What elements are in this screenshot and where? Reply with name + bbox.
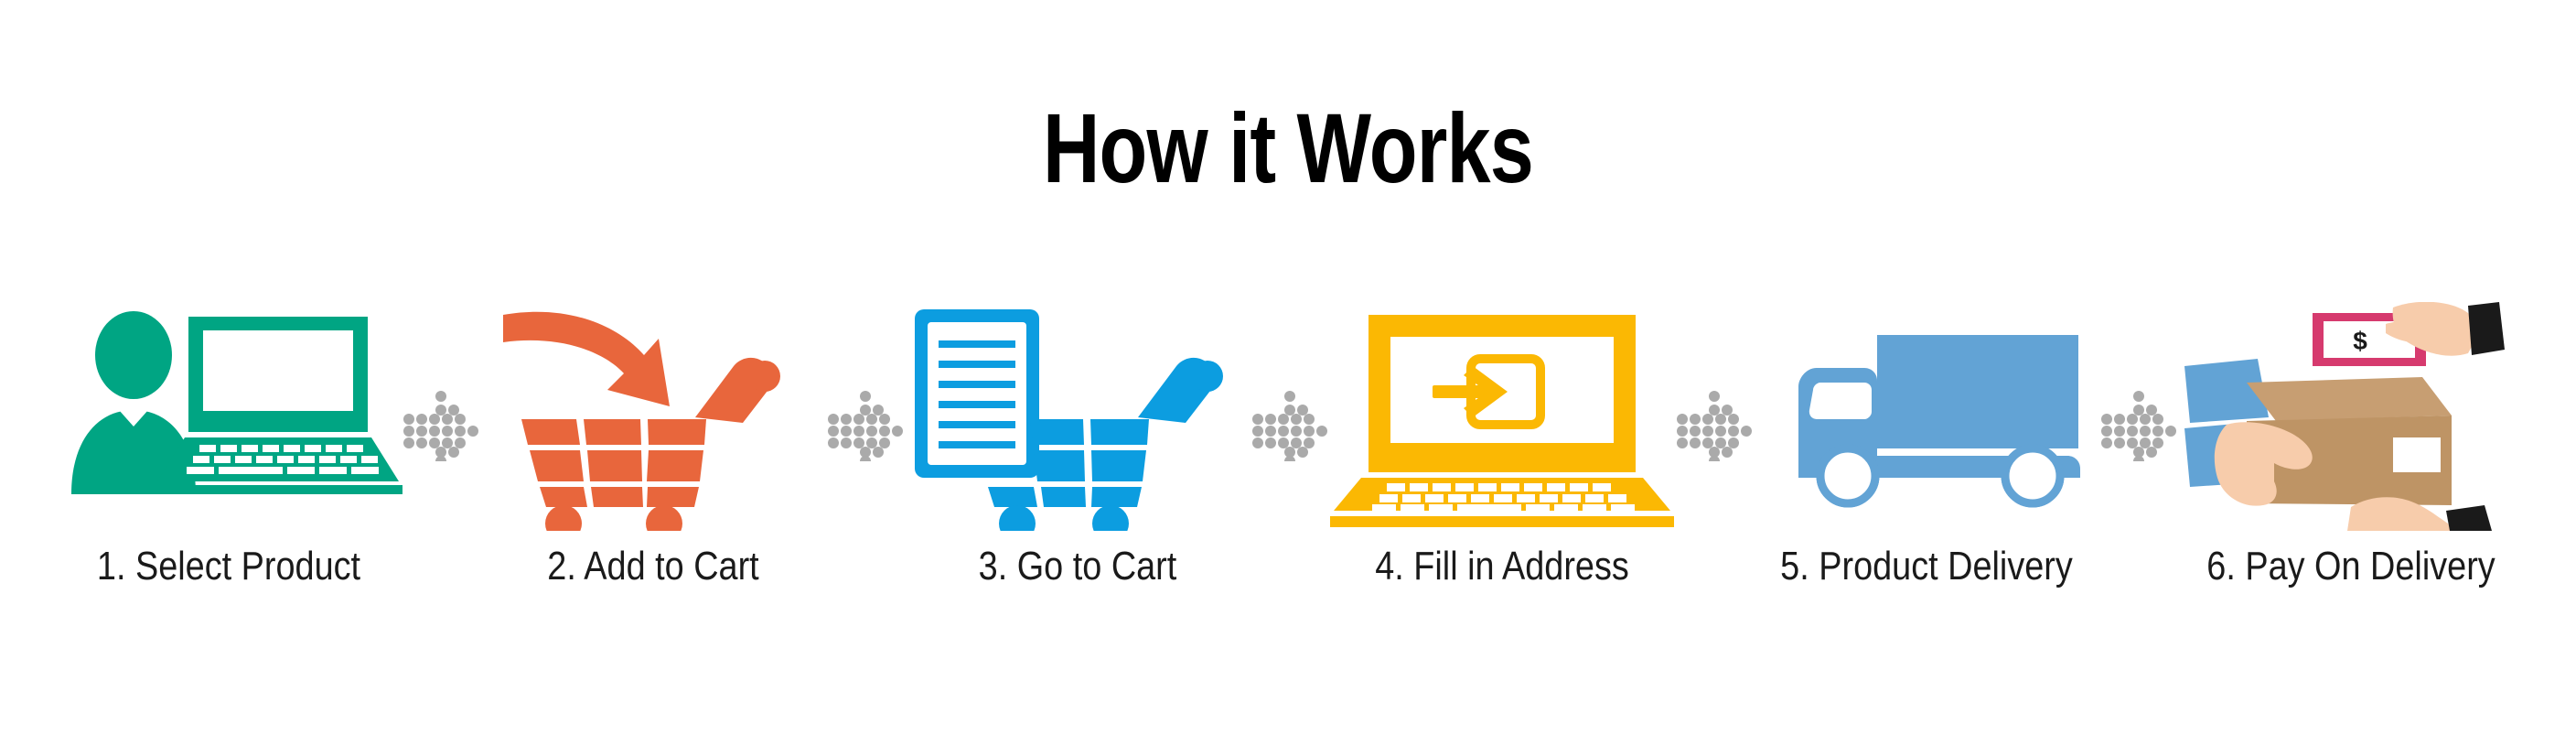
document-list-with-cart-icon	[904, 302, 1251, 531]
dotted-arrow-right-icon	[402, 302, 479, 632]
page-title: How it Works	[258, 99, 2319, 198]
step-3-label: 3. Go to Cart	[928, 545, 1228, 588]
step-5-label: 5. Product Delivery	[1777, 545, 2077, 588]
laptop-with-login-arrow-icon	[1328, 302, 1676, 531]
dotted-arrow-right-icon	[1676, 302, 1753, 632]
dotted-arrow-right-icon	[2100, 302, 2177, 632]
hands-exchanging-box-and-cash-icon: $	[2177, 302, 2525, 531]
step-6-pay-on-delivery[interactable]: $	[2177, 302, 2525, 632]
step-4-label: 4. Fill in Address	[1353, 545, 1652, 588]
delivery-truck-icon	[1753, 302, 2100, 531]
step-1-label: 1. Select Product	[80, 545, 379, 588]
step-2-label: 2. Add to Cart	[504, 545, 803, 588]
dotted-arrow-right-icon	[827, 302, 904, 632]
step-5-product-delivery[interactable]: 5. Product Delivery	[1753, 302, 2100, 632]
steps-row: 1. Select Product	[55, 302, 2525, 632]
step-2-add-to-cart[interactable]: 2. Add to Cart	[479, 302, 827, 632]
svg-text:$: $	[2353, 327, 2367, 355]
dotted-arrow-right-icon	[1251, 302, 1328, 632]
shopping-cart-with-curved-arrow-icon	[479, 302, 827, 531]
step-1-select-product[interactable]: 1. Select Product	[55, 302, 402, 632]
step-3-go-to-cart[interactable]: 3. Go to Cart	[904, 302, 1251, 632]
step-4-fill-in-address[interactable]: 4. Fill in Address	[1328, 302, 1676, 632]
person-with-laptop-icon	[55, 302, 402, 531]
step-6-label: 6. Pay On Delivery	[2202, 545, 2501, 588]
